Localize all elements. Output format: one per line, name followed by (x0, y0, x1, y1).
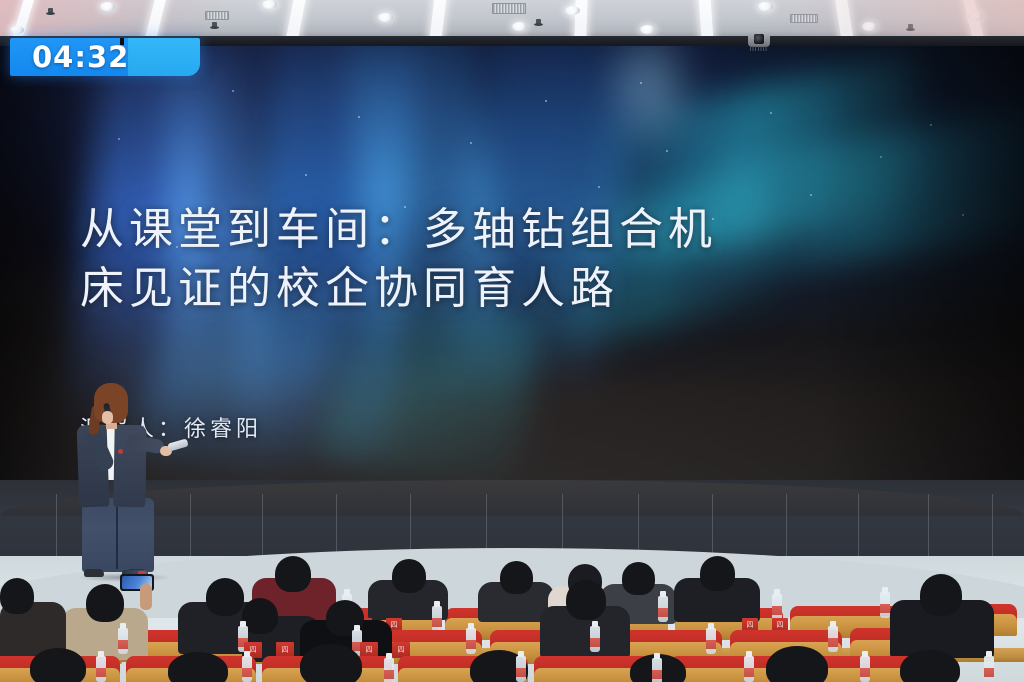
water-bottle (860, 656, 870, 682)
water-bottle (984, 656, 994, 682)
ceiling-led-strip (833, 0, 854, 40)
ceiling-led-strip (143, 0, 168, 40)
ceiling-led-strip (961, 0, 986, 40)
water-bottle (772, 594, 782, 620)
ceiling-downlight (378, 13, 393, 22)
ceiling-camera-icon (748, 30, 770, 47)
audience-head (206, 578, 244, 616)
ceiling-sprinkler (536, 19, 541, 26)
water-bottle (96, 656, 106, 682)
seat-number-text: 四 (391, 620, 398, 630)
presenter-figure (62, 383, 190, 579)
ceiling-air-vent (790, 14, 818, 23)
ceiling-downlight (565, 6, 580, 15)
seat-number-text: 四 (250, 645, 257, 655)
ceiling-downlight (10, 26, 24, 34)
ceiling-sprinkler (908, 24, 913, 31)
seat-number-text: 四 (747, 620, 754, 630)
ceiling-led-strip (284, 0, 307, 40)
ceiling-led-strip (428, 0, 447, 40)
seat-number-text: 四 (366, 645, 373, 655)
audience-head (300, 644, 362, 682)
water-bottle (744, 656, 754, 682)
ceiling-led-strip (698, 0, 714, 40)
ceiling-air-vent (205, 11, 229, 20)
presenter-remote (167, 438, 188, 451)
audience-head (392, 559, 426, 593)
ceiling-downlight (512, 22, 527, 31)
audience-area: 四 四 四 四 四 (0, 556, 1024, 682)
audience-head (700, 556, 735, 591)
ceiling-downlight (862, 22, 877, 31)
audience-head (275, 556, 311, 592)
audience-head (0, 578, 34, 614)
water-bottle (828, 626, 838, 652)
water-bottle (590, 626, 600, 652)
presenter-badge-pin (118, 449, 123, 454)
audience-hand (140, 584, 152, 610)
seat-number-text: 四 (777, 620, 784, 630)
timer-bar-light (128, 38, 200, 76)
audience-head (86, 584, 124, 622)
ceiling-sprinkler (48, 8, 53, 15)
ceiling-downlight (640, 25, 655, 34)
water-bottle (706, 628, 716, 654)
timer-value: 04:32 (32, 40, 129, 74)
seat-number-text: 四 (398, 645, 405, 655)
ceiling-downlight (262, 0, 277, 9)
auditorium-photo: 从课堂到车间：多轴钻组合机 床见证的校企协同育人路 汇报人：徐睿阳 04:32 (0, 0, 1024, 682)
water-bottle (466, 628, 476, 654)
audience-head (168, 652, 228, 682)
ceiling-led-strip (10, 0, 35, 40)
audience-head (766, 646, 828, 682)
ceiling-downlight (100, 2, 115, 11)
water-bottle (880, 592, 890, 618)
ceiling-sprinkler (212, 22, 217, 29)
water-bottle (432, 606, 442, 632)
audience-head (622, 562, 655, 595)
countdown-timer-badge: 04:32 (10, 38, 200, 76)
water-bottle (516, 656, 526, 682)
audience-head (500, 561, 533, 594)
ceiling (0, 0, 1024, 40)
water-bottle (658, 596, 668, 622)
water-bottle (652, 658, 662, 682)
water-bottle (118, 628, 128, 654)
presenter-hand (102, 411, 113, 424)
ceiling-downlight (758, 2, 773, 11)
audience-head (566, 580, 606, 620)
slide-title: 从课堂到车间：多轴钻组合机 床见证的校企协同育人路 (80, 201, 960, 319)
audience-head (30, 648, 86, 682)
audience-head (920, 574, 962, 616)
ceiling-downlight (968, 12, 983, 21)
ceiling-air-vent (492, 3, 526, 14)
audience-head (900, 650, 960, 682)
water-bottle (242, 656, 252, 682)
water-bottle (384, 658, 394, 682)
seat-number-text: 四 (282, 645, 289, 655)
